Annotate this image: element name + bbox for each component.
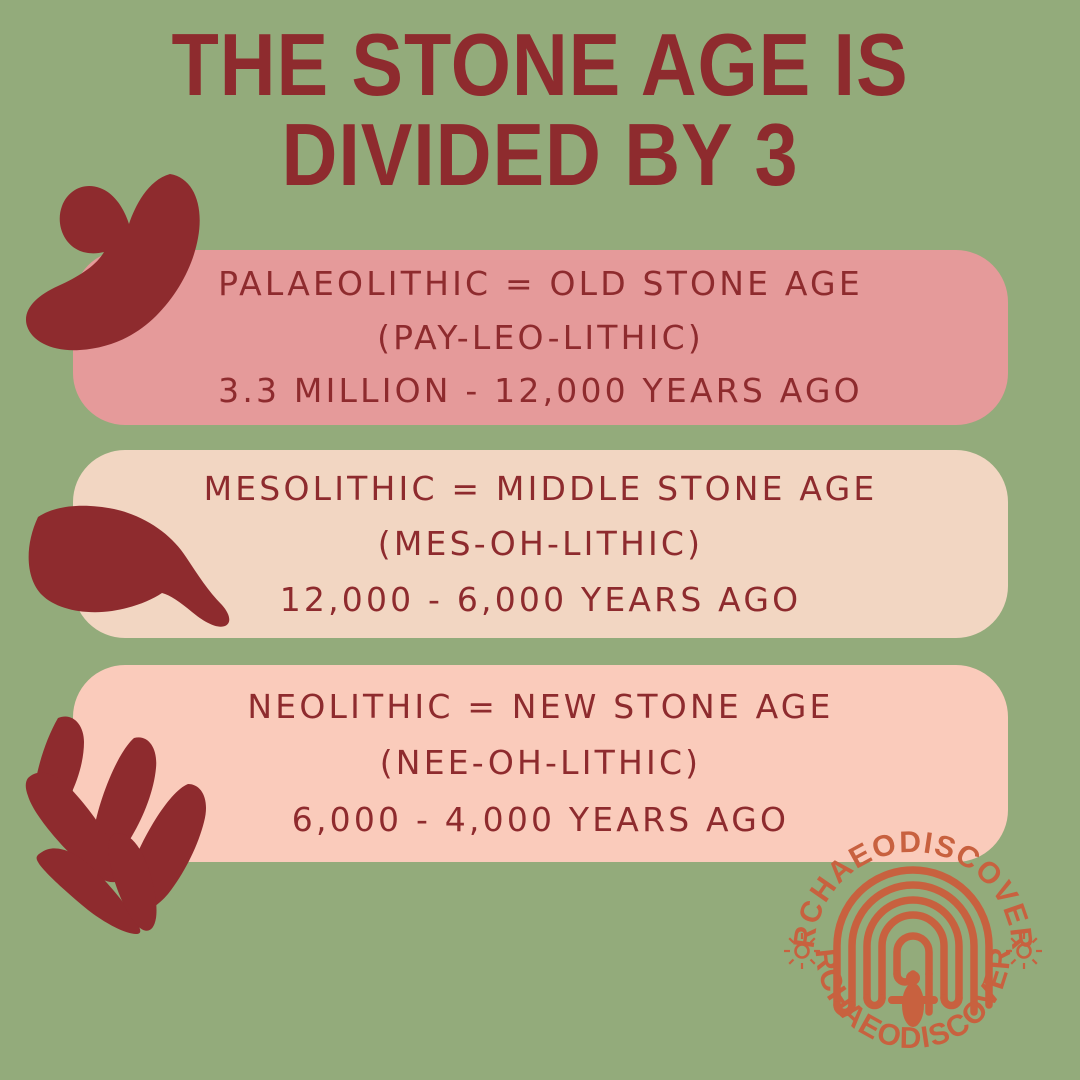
- card-mesolithic: MESOLITHIC = MIDDLE STONE AGE (MES-OH-LI…: [73, 450, 1008, 638]
- page-title-line-1: THE STONE AGE IS: [65, 20, 1015, 110]
- sunburst-left-icon: [784, 933, 820, 969]
- card-mesolithic-daterange: 12,000 - 6,000 YEARS AGO: [280, 572, 802, 627]
- page-title: THE STONE AGE IS DIVIDED BY 3: [65, 20, 1015, 200]
- card-mesolithic-pronunciation: (MES-OH-LITHIC): [378, 516, 703, 571]
- brand-logo[interactable]: ARCHAEODISCOVERY ARCHAEODISCOVERY: [784, 822, 1042, 1080]
- card-palaeolithic-daterange: 3.3 MILLION - 12,000 YEARS AGO: [218, 364, 863, 417]
- card-palaeolithic-name: PALAEOLITHIC = OLD STONE AGE: [218, 257, 863, 310]
- card-mesolithic-name: MESOLITHIC = MIDDLE STONE AGE: [204, 461, 878, 516]
- card-neolithic-pronunciation: (NEE-OH-LITHIC): [380, 735, 702, 791]
- sunburst-right-icon: [1006, 933, 1042, 969]
- page-title-line-2: DIVIDED BY 3: [65, 110, 1015, 200]
- poster-canvas: THE STONE AGE IS DIVIDED BY 3 PALAEOLITH…: [0, 0, 1080, 1080]
- card-palaeolithic-pronunciation: (PAY-LEO-LITHIC): [377, 311, 704, 364]
- card-neolithic-daterange: 6,000 - 4,000 YEARS AGO: [292, 792, 789, 848]
- card-palaeolithic: PALAEOLITHIC = OLD STONE AGE (PAY-LEO-LI…: [73, 250, 1008, 425]
- card-neolithic-name: NEOLITHIC = NEW STONE AGE: [247, 679, 833, 735]
